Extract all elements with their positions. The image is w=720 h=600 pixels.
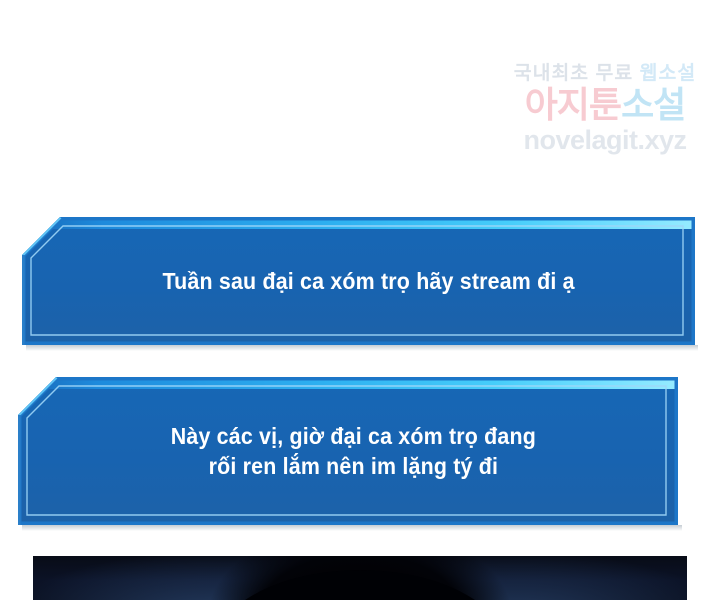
speech-bubble-1-text: Tuần sau đại ca xóm trọ hãy stream đi ạ	[149, 266, 587, 296]
watermark-tagline: 국내최초 무료 웹소설	[503, 62, 707, 86]
bubble-shadow	[22, 525, 682, 531]
speech-bubble-2: Này các vị, giờ đại ca xóm trọ đang rối …	[18, 377, 678, 525]
speech-bubble-1: Tuần sau đại ca xóm trọ hãy stream đi ạ	[22, 217, 695, 345]
watermark-tagline-highlight: 웹소설	[640, 63, 697, 84]
character-silhouette	[210, 570, 510, 600]
watermark-logo: 아지툰소설	[505, 84, 705, 126]
bubble-top-highlight	[22, 217, 695, 229]
watermark-url: novelagit.xyz	[505, 125, 705, 155]
bubble-top-highlight	[18, 377, 678, 389]
dark-scene-panel	[33, 556, 687, 600]
watermark-logo-red: 아지툰	[525, 84, 621, 125]
speech-bubble-2-text: Này các vị, giờ đại ca xóm trọ đang rối …	[157, 421, 548, 481]
watermark-tagline-prefix: 국내최초 무료	[514, 63, 640, 84]
site-watermark: 국내최초 무료 웹소설 아지툰소설 novelagit.xyz	[505, 62, 705, 170]
bubble-shadow	[26, 345, 698, 351]
watermark-logo-cyan: 소설	[621, 84, 685, 125]
comic-page: 국내최초 무료 웹소설 아지툰소설 novelagit.xyz Tuần sau…	[0, 0, 720, 600]
